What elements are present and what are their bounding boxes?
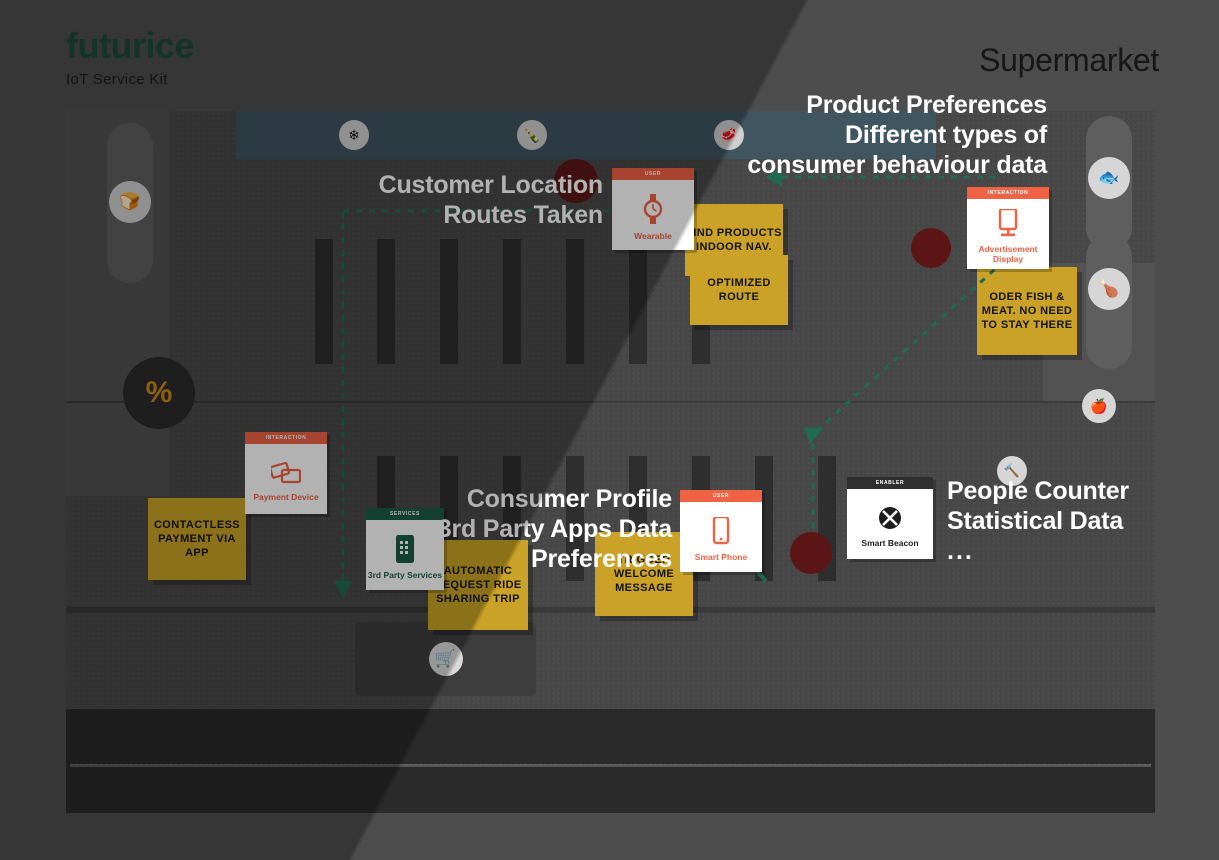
card-label: Payment Device [253,492,318,502]
discount-badge: % [123,357,195,429]
bread-glyph: 🍞 [119,192,140,212]
page-title: Supermarket [979,42,1159,79]
entrance-area[interactable]: 🛒 [355,622,536,696]
annotation-line: Customer Location [300,170,603,200]
card-label: Advertisement Display [967,244,1049,264]
annotation-line: Preferences [372,544,672,574]
annotation-line: Routes Taken [300,200,603,230]
logo-wordmark: futurice [66,28,194,64]
note-text: CONTACTLESS PAYMENT VIA APP [148,518,246,560]
brand-logo: futurice IoT Service Kit [66,28,194,88]
annotation-line: Statistical Data [947,506,1197,536]
card-body: Wearable [634,180,672,250]
snowflake-icon: ❄ [339,120,369,150]
floor-bottom-strip [66,709,1155,813]
poultry-icon: 🍗 [1088,268,1130,310]
payment-card-icon [271,461,301,485]
cart-glyph: 🛒 [435,649,456,669]
fish-glyph: 🐟 [1098,168,1119,188]
note-text: ODER FISH & MEAT. NO NEED TO STAY THERE [977,290,1077,332]
display-icon [996,209,1020,237]
store-floorplan-canvas[interactable]: 🍞 🐟 🍗 🍎 🔨 ❄ 🍾 🥩 % [66,111,1155,813]
floor-bottom-dashed-line [70,764,1151,767]
shelf [315,239,333,364]
shelf [503,239,521,364]
card-body: Smart Phone [695,502,747,572]
watch-icon [642,194,664,224]
beacon-icon [877,505,903,531]
fruit-glyph: 🍎 [1090,398,1107,415]
logo-subtitle: IoT Service Kit [66,71,194,88]
device-card-payment-device[interactable]: INTERACTION Payment Device [245,432,327,514]
shelf [566,239,584,364]
shelf [629,239,647,364]
sticky-note-contactless-payment[interactable]: CONTACTLESS PAYMENT VIA APP [148,498,246,580]
card-body: Advertisement Display [967,199,1049,269]
annotation-customer-location: Customer Location Routes Taken [300,170,603,230]
annotation-line: 3rd Party Apps Data [372,514,672,544]
fruit-icon: 🍎 [1082,389,1116,423]
card-body: Smart Beacon [861,489,918,559]
annotation-line: People Counter [947,476,1197,506]
annotation-consumer-profile: Consumer Profile 3rd Party Apps Data Pre… [372,484,672,574]
sticky-note-optimized-route[interactable]: OPTIMIZED ROUTE [690,255,788,325]
card-category: ENABLER [847,477,933,489]
poultry-glyph: 🍗 [1098,279,1119,299]
shelf [377,239,395,364]
discount-badge-label: % [146,376,173,410]
floor-divider-mid [66,401,1155,403]
bottle-glyph: 🍾 [523,127,540,144]
card-label: Wearable [634,231,672,241]
annotation-line: ... [947,536,1197,566]
shopping-cart-icon: 🛒 [429,642,463,676]
smartphone-icon [712,517,730,545]
fish-icon: 🐟 [1088,157,1130,199]
device-card-advertisement-display[interactable]: INTERACTION Advertisement Display [967,187,1049,269]
snowflake-glyph: ❄ [348,127,360,144]
card-label: Smart Beacon [861,538,918,548]
bread-icon: 🍞 [109,181,151,223]
annotation-product-preferences: Product Preferences Different types of c… [587,90,1047,180]
device-card-wearable[interactable]: USER Wearable [612,168,694,250]
card-body: Payment Device [253,444,318,514]
note-text: FIND PRODUCTS INDOOR NAV. [685,226,783,254]
bottle-icon: 🍾 [517,120,547,150]
card-category: USER [680,490,762,502]
annotation-people-counter: People Counter Statistical Data ... [947,476,1197,566]
shelf [440,239,458,364]
annotation-line: Different types of [587,120,1047,150]
location-blob [911,228,951,268]
card-category: INTERACTION [245,432,327,444]
page-header: futurice IoT Service Kit Supermarket [0,0,1219,100]
location-blob [790,532,832,574]
device-card-smart-beacon[interactable]: ENABLER Smart Beacon [847,477,933,559]
annotation-line: Consumer Profile [372,484,672,514]
sticky-note-order-fish-meat[interactable]: ODER FISH & MEAT. NO NEED TO STAY THERE [977,267,1077,355]
card-label: Smart Phone [695,552,747,562]
annotation-line: consumer behaviour data [587,150,1047,180]
note-text: OPTIMIZED ROUTE [690,276,788,304]
card-category: INTERACTION [967,187,1049,199]
device-card-smart-phone[interactable]: USER Smart Phone [680,490,762,572]
annotation-line: Product Preferences [587,90,1047,120]
